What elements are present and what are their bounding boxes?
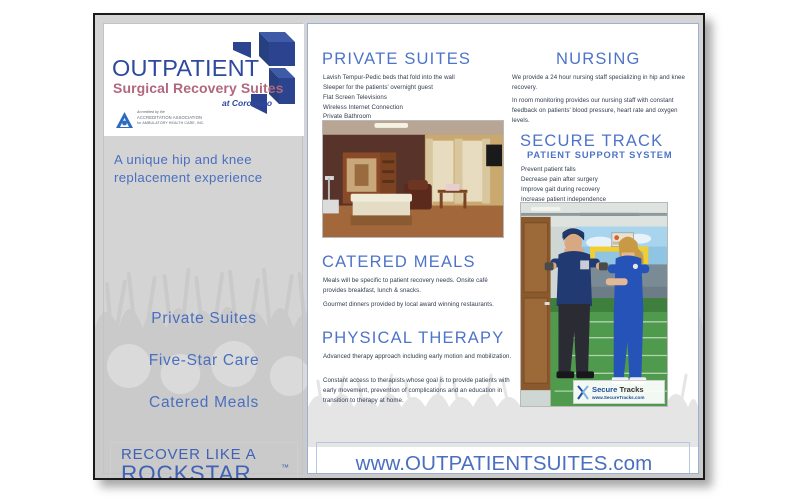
nursing-paragraph-1: We provide a 24 hour nursing staff speci…	[512, 73, 690, 93]
catered-meals-paragraph-2: Gourmet dinners provided by local award …	[323, 300, 513, 310]
nursing-paragraph-2: In room monitoring provides our nursing …	[512, 96, 690, 126]
accreditation-text: Accredited by the ACCREDITATION ASSOCIAT…	[137, 110, 205, 126]
private-suites-list: Lavish Tempur-Pedic beds that fold into …	[323, 73, 508, 122]
section-heading-secure-track: SECURE TRACK	[520, 132, 663, 151]
secure-track-subheading: PATIENT SUPPORT SYSTEM	[527, 150, 672, 160]
left-panel: OUTPATIENT Surgical Recovery Suites at C…	[103, 23, 303, 474]
website-url[interactable]: www.OUTPATIENTSUITES.com	[317, 452, 691, 474]
secure-track-walking-therapy-photo: Secure Tracks www.SecureTracks.com	[520, 202, 668, 407]
section-heading-physical-therapy: PHYSICAL THERAPY	[322, 329, 504, 348]
section-heading-catered-meals: CATERED MEALS	[322, 253, 476, 272]
list-item: Improve gait during recovery	[521, 185, 691, 195]
section-heading-nursing: NURSING	[556, 50, 641, 69]
physical-therapy-paragraph-2: Constant access to therapists whose goal…	[323, 376, 513, 406]
list-item: Flat Screen Televisions	[323, 93, 508, 103]
secure-tracks-logo-url[interactable]: www.SecureTracks.com	[592, 395, 644, 400]
list-item: Lavish Tempur-Pedic beds that fold into …	[323, 73, 508, 83]
left-link-five-star-care[interactable]: Five-Star Care	[104, 352, 304, 370]
website-url-box[interactable]: www.OUTPATIENTSUITES.com	[316, 442, 690, 474]
secure-tracks-partner-logo: Secure Tracks www.SecureTracks.com	[573, 380, 665, 404]
list-item: Decrease pain after surgery	[521, 175, 691, 185]
logo-block: OUTPATIENT Surgical Recovery Suites at C…	[104, 24, 304, 136]
accreditation-seal: Accredited by the ACCREDITATION ASSOCIAT…	[116, 110, 256, 134]
section-heading-private-suites: PRIVATE SUITES	[322, 50, 471, 69]
list-item: Sleeper for the patients' overnight gues…	[323, 83, 508, 93]
brand-subtitle: Surgical Recovery Suites	[113, 80, 283, 96]
rockstar-trademark: ™	[281, 463, 289, 472]
secure-tracks-x-icon	[577, 385, 590, 400]
tagline: A unique hip and knee replacement experi…	[114, 151, 299, 186]
rockstar-line-2: ROCKSTAR	[121, 461, 252, 480]
accreditation-line-3: for AMBULATORY HEALTH CARE, INC.	[137, 121, 205, 126]
aaahc-triangle-seal-icon	[116, 112, 133, 130]
brochure-page: OUTPATIENT Surgical Recovery Suites at C…	[93, 13, 705, 480]
left-link-private-suites[interactable]: Private Suites	[104, 310, 304, 328]
physical-therapy-paragraph-1: Advanced therapy approach including earl…	[323, 352, 513, 362]
screenshot-canvas: OUTPATIENT Surgical Recovery Suites at C…	[0, 0, 800, 500]
right-panel: PRIVATE SUITES Lavish Tempur-Pedic beds …	[307, 23, 699, 474]
secure-tracks-logo-name: Secure Tracks	[592, 385, 644, 394]
brand-wordmark: OUTPATIENT	[112, 55, 259, 82]
list-item: Prevent patient falls	[521, 165, 691, 175]
catered-meals-paragraph-1: Meals will be specific to patient recove…	[323, 276, 513, 296]
rockstar-slogan: RECOVER LIKE A ROCKSTAR ™	[110, 442, 298, 480]
private-suite-room-photo	[322, 120, 504, 238]
secure-tracks-name-part-1: Secure	[592, 385, 617, 394]
secure-tracks-name-part-2: Tracks	[619, 385, 643, 394]
list-item: Wireless Internet Connection	[323, 103, 508, 113]
left-link-catered-meals[interactable]: Catered Meals	[104, 394, 304, 412]
brand-location: at Coronado	[222, 98, 272, 108]
